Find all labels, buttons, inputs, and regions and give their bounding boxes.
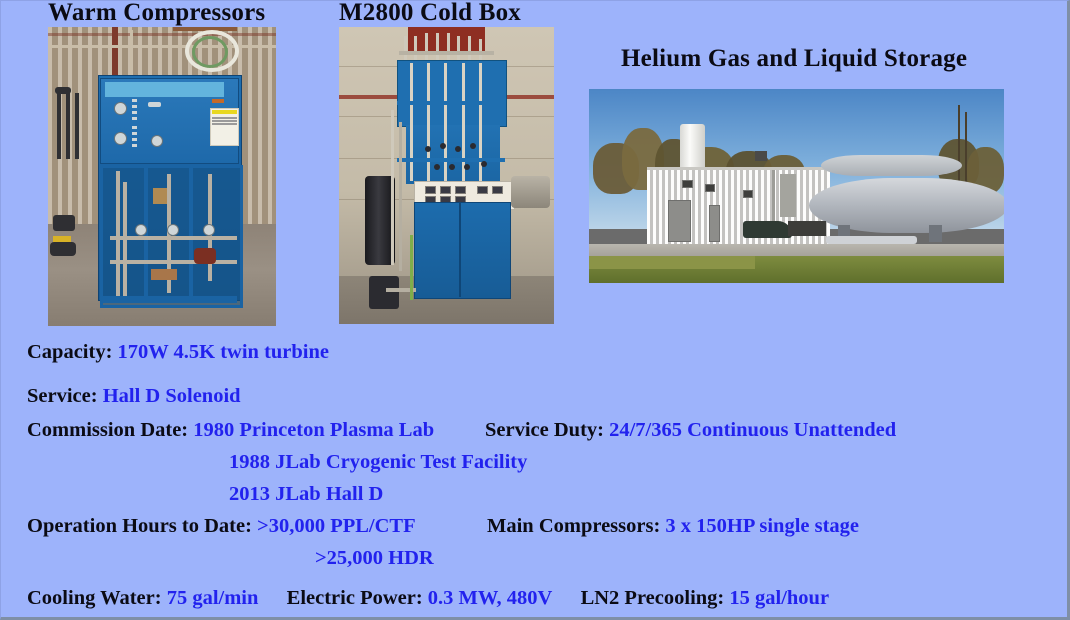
spec-value-main-compressors: 3 x 150HP single stage <box>665 515 859 537</box>
spec-row-operation-hours-2: >25,000 HDR <box>315 548 434 569</box>
spec-label-cooling-water: Cooling Water: <box>27 587 162 609</box>
spec-label-service-duty: Service Duty: <box>485 419 604 441</box>
spec-value-ln2-precooling: 15 gal/hour <box>729 587 829 609</box>
spec-label-ln2-precooling: LN2 Precooling: <box>581 587 725 609</box>
spec-value-service: Hall D Solenoid <box>103 385 241 407</box>
photo-m2800-cold-box <box>339 27 554 324</box>
spec-value-electric-power: 0.3 MW, 480V <box>428 587 553 609</box>
spec-row-service: Service: Hall D Solenoid <box>27 386 241 407</box>
photo-warm-compressors <box>48 27 276 326</box>
spec-value-commission-date-1: 1980 Princeton Plasma Lab <box>193 419 434 441</box>
spec-row-operation-hours: Operation Hours to Date: >30,000 PPL/CTF <box>27 516 416 537</box>
spec-row-service-duty: Service Duty: 24/7/365 Continuous Unatte… <box>485 420 896 441</box>
spec-row-commission-date-2: 1988 JLab Cryogenic Test Facility <box>229 452 527 473</box>
heading-helium-gas-and-liquid-storage: Helium Gas and Liquid Storage <box>621 45 967 73</box>
spec-value-commission-date-3: 2013 JLab Hall D <box>229 483 383 505</box>
spec-value-capacity: 170W 4.5K twin turbine <box>118 341 329 363</box>
heading-warm-compressors: Warm Compressors <box>48 0 265 27</box>
spec-value-cooling-water: 75 gal/min <box>167 587 259 609</box>
caution-sign <box>210 108 239 146</box>
spec-label-main-compressors: Main Compressors: <box>487 515 660 537</box>
photo-helium-storage <box>589 89 1004 283</box>
heading-m2800-cold-box: M2800 Cold Box <box>339 0 521 27</box>
spec-row-capacity: Capacity: 170W 4.5K twin turbine <box>27 342 329 363</box>
spec-row-utilities: Cooling Water: 75 gal/min Electric Power… <box>27 588 829 609</box>
spec-label-operation-hours: Operation Hours to Date: <box>27 515 252 537</box>
spec-label-capacity: Capacity: <box>27 341 112 363</box>
spec-row-commission-date: Commission Date: 1980 Princeton Plasma L… <box>27 420 434 441</box>
spec-row-main-compressors: Main Compressors: 3 x 150HP single stage <box>487 516 859 537</box>
spec-label-electric-power: Electric Power: <box>287 587 423 609</box>
spec-label-commission-date: Commission Date: <box>27 419 188 441</box>
slide-canvas: Warm Compressors M2800 Cold Box Helium G… <box>0 0 1070 620</box>
spec-value-operation-hours-1: >30,000 PPL/CTF <box>257 515 416 537</box>
spec-label-service: Service: <box>27 385 98 407</box>
spec-value-operation-hours-2: >25,000 HDR <box>315 547 434 569</box>
spec-value-service-duty: 24/7/365 Continuous Unattended <box>609 419 896 441</box>
spec-value-commission-date-2: 1988 JLab Cryogenic Test Facility <box>229 451 527 473</box>
spec-row-commission-date-3: 2013 JLab Hall D <box>229 484 383 505</box>
